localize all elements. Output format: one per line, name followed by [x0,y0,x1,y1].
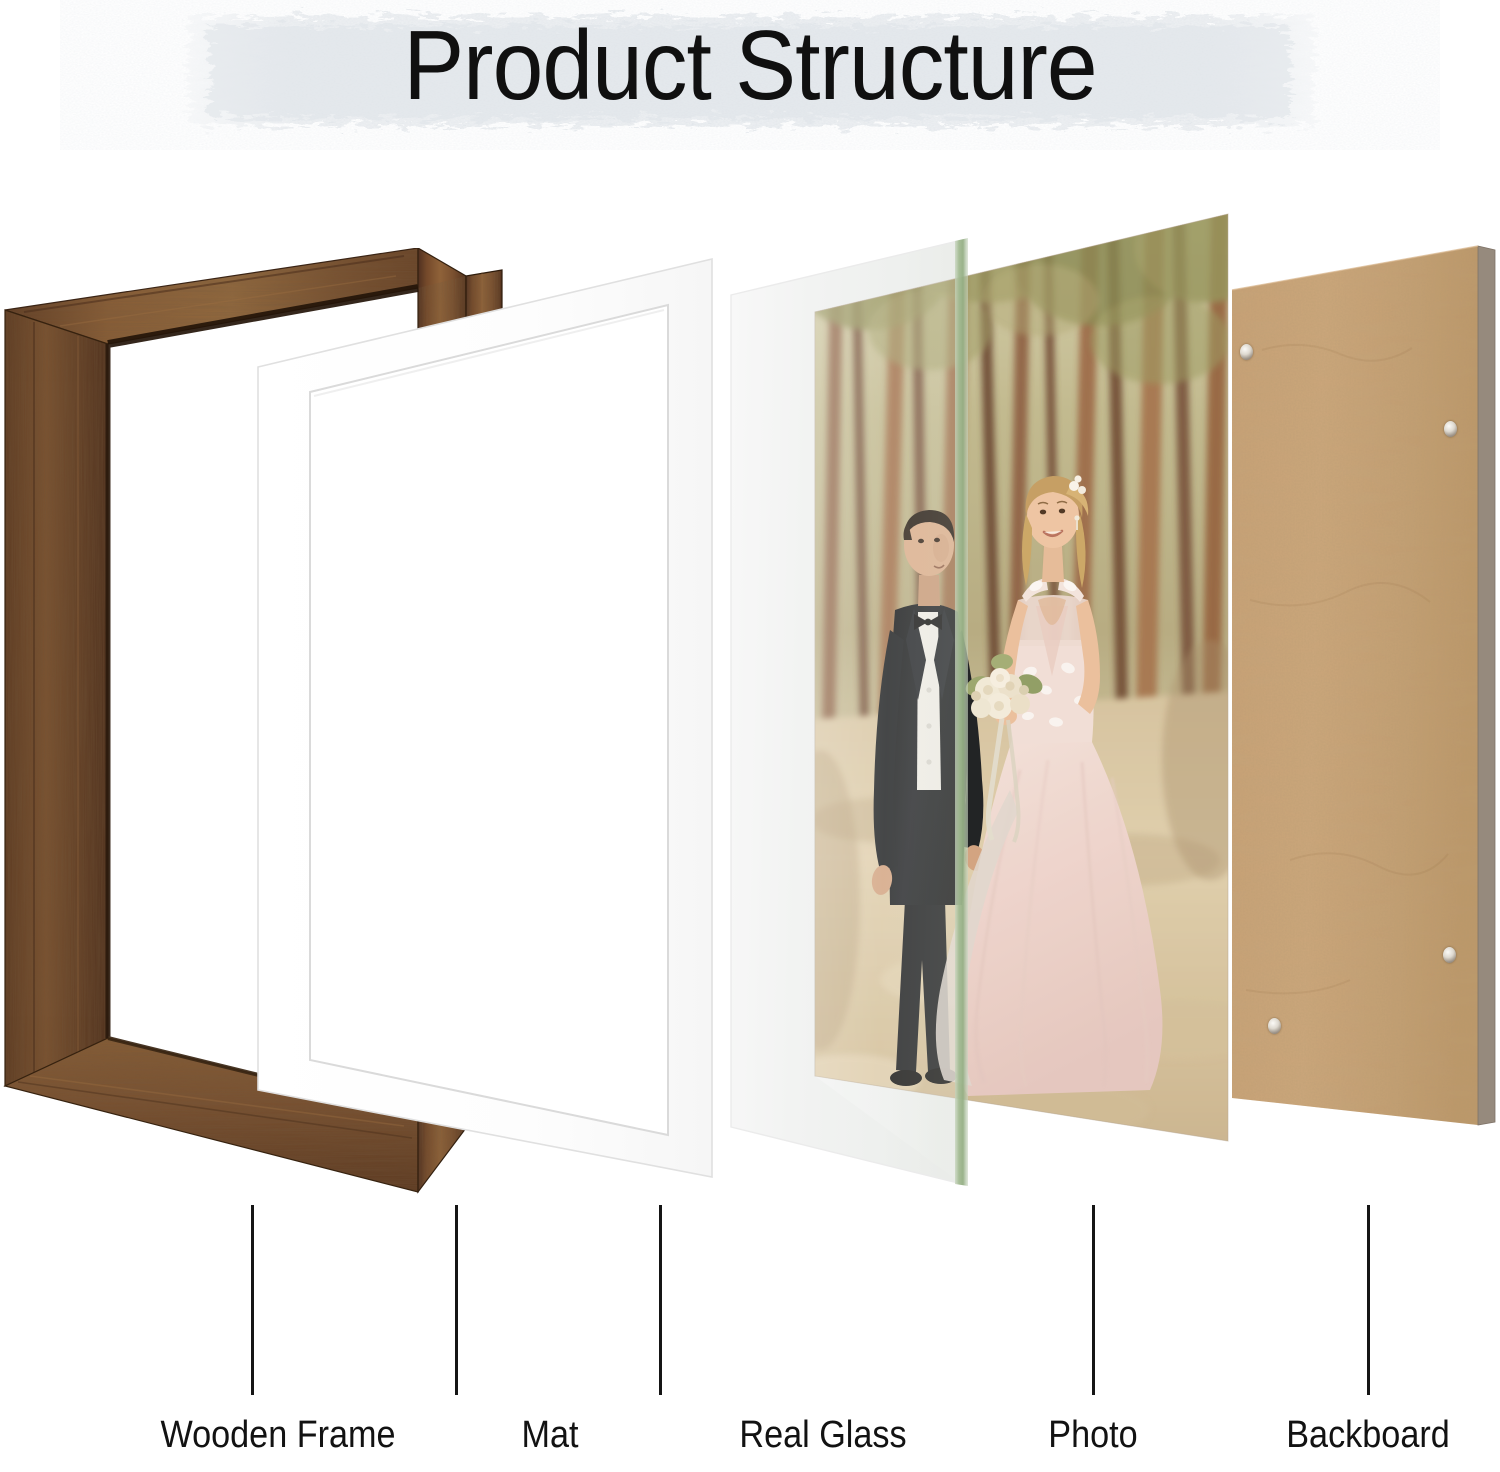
page-title: Product Structure [53,14,1448,117]
backboard-edge [1478,246,1495,1125]
leader-line-photo [1092,1205,1095,1395]
photo-border [815,214,1228,1141]
glass-over-photo [815,277,962,1184]
backboard-rivet [1444,421,1457,437]
frame-bottom-rail [5,1038,418,1192]
hair-flower [1069,475,1086,494]
frame-right-rail-face [418,248,466,1192]
leader-line-real-glass [659,1205,662,1395]
photo-bouquet [962,653,1045,842]
photo-image [780,187,1275,1170]
frame-right-rail-side [466,270,502,1128]
infographic-canvas: Product Structure [0,0,1500,1472]
backboard-rivet [1268,1018,1281,1034]
label-real-glass: Real Glass [688,1414,958,1457]
backboard-rivet [1240,344,1253,360]
label-backboard: Backboard [1233,1414,1500,1457]
photo-bride [936,475,1163,1096]
leader-line-mat [455,1205,458,1395]
label-wooden-frame: Wooden Frame [98,1414,458,1457]
label-mat: Mat [415,1414,685,1457]
backboard-rivet [1443,947,1456,963]
leader-line-backboard [1367,1205,1370,1395]
frame-inner-lip [108,288,418,1114]
photo-groom [870,510,987,1086]
wooden-frame-layer [0,248,520,1238]
label-photo: Photo [958,1414,1228,1457]
glass-pane [731,240,962,1184]
frame-left-rail [5,310,108,1086]
title-banner: Product Structure [0,0,1500,150]
leader-line-wooden-frame [251,1205,254,1395]
glass-green-edge [955,238,968,1186]
